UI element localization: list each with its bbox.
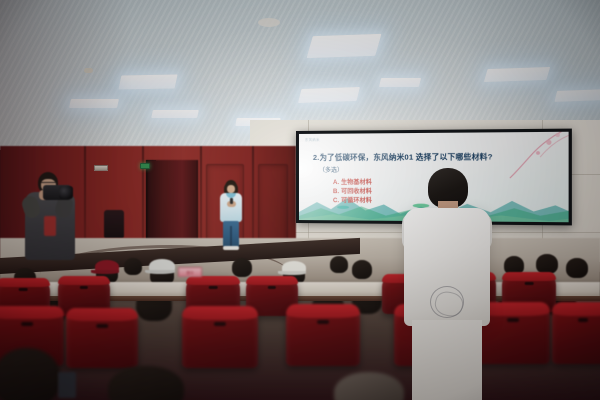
seat-tab [578,318,588,322]
seat [552,302,600,364]
seat-tab [80,286,88,289]
seat-tab [317,320,329,324]
foreground-head [0,348,60,400]
auditorium-photo: 东风纳米 2.为了低碳环保，东风纳米01 选择了以下哪些材料? （多选） A. … [0,0,600,400]
presenter-face [227,185,235,193]
trash-bin [104,210,124,238]
seat-tab [96,324,108,328]
wood-inset-panel [258,164,288,246]
white-cap [149,259,175,273]
shirt-circular-graphic [430,286,464,318]
seat [66,308,138,368]
seat-tab [209,286,218,289]
audience-head [352,260,372,279]
trouser-gap [230,226,232,246]
seat-tab [507,318,519,322]
slide-option-a: A. 生物基材料 [333,177,372,186]
slide-logo: 东风纳米 [305,137,320,142]
seat-tab [19,288,28,291]
presenter-on-stage [218,180,244,250]
white-cap [282,261,306,274]
seat-tab [268,286,276,289]
camera-lens-icon [59,186,73,199]
red-cap [95,260,119,273]
audience-head [124,258,142,275]
seat-tab [525,282,534,285]
ceiling-speaker-icon [258,18,280,27]
wall-vent-icon [94,165,108,171]
seat-tab [214,322,226,326]
audience-head [330,256,348,273]
audience-head [232,258,252,277]
seat-tab [21,322,33,326]
foreground-head [108,366,184,400]
seat [286,304,360,366]
microphone-icon [230,198,233,204]
presenter-shoes [223,246,239,250]
glasses-icon [41,182,56,185]
slide-option-b: B. 可回收材料 [333,186,372,195]
photographer-with-camera [22,172,78,260]
audience-head [536,254,558,274]
standing-attendee-lower [412,320,482,400]
slide-option-c: C. 可循环材料 [333,195,372,204]
camera-icon [43,185,71,200]
slide-question: 2.为了低碳环保，东风纳米01 选择了以下哪些材料? [313,151,556,163]
placard-text: 提问 [179,268,201,276]
slide-subtitle: （多选） [319,165,343,174]
exit-sign-icon [140,163,150,169]
standing-attendee-foreground [404,168,490,400]
table-placard: 提问 [178,267,202,277]
audience-head [566,258,588,278]
smartphone-icon [58,372,76,398]
smoke-detector-icon [84,68,93,73]
seat [182,306,258,368]
shirt-graphic [44,216,56,236]
standing-attendee-shirt [404,208,490,326]
